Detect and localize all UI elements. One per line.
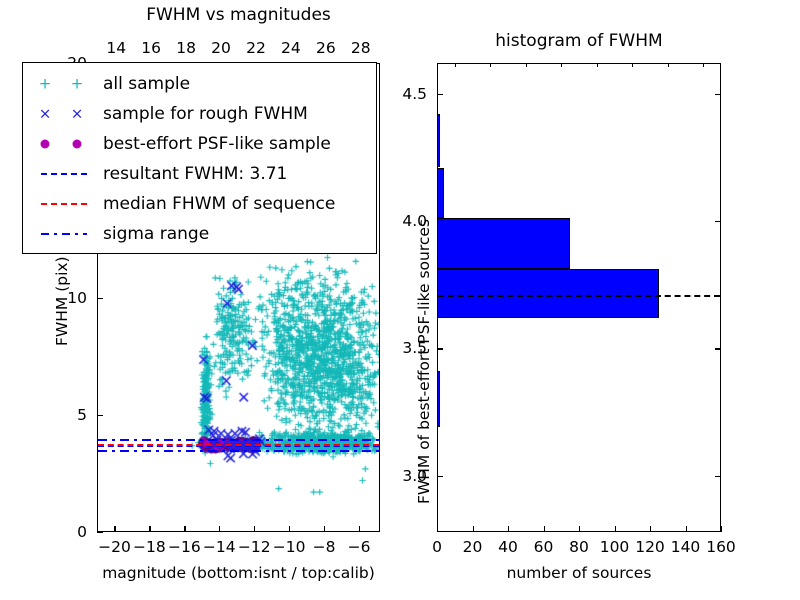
legend-marker-dashed-line <box>31 159 103 189</box>
histogram-bar <box>437 269 659 317</box>
legend-label: median FHWM of sequence <box>103 196 335 213</box>
right-xticklabel: 0 <box>432 538 442 556</box>
right-ytick-right <box>715 476 721 477</box>
left-xticklabel-top: 14 <box>106 39 126 57</box>
legend-entry: sigma range <box>31 219 209 249</box>
legend-entry: ++all sample <box>31 69 190 99</box>
legend-marker-cross: ×× <box>31 99 103 129</box>
legend-entry: ××sample for rough FWHM <box>31 99 308 129</box>
left-xticklabel-bottom: −12 <box>238 538 271 556</box>
left-xticklabel-top: 16 <box>141 39 161 57</box>
left-xtick-bottom <box>219 526 220 532</box>
right-xaxis-label: number of sources <box>507 564 652 582</box>
right-xtick-minor <box>490 63 491 67</box>
right-ytick-right <box>715 348 721 349</box>
left-xticklabel-top: 28 <box>351 39 371 57</box>
left-plot-title: FWHM vs magnitudes <box>97 5 380 25</box>
left-xticklabel-bottom: −20 <box>98 538 131 556</box>
right-xticklabel: 60 <box>534 538 554 556</box>
left-xtick-bottom <box>359 526 360 532</box>
right-xticklabel: 120 <box>635 538 665 556</box>
left-refline-sigma-range-lower <box>98 450 379 452</box>
legend-label: sample for rough FWHM <box>103 106 308 123</box>
histogram-bar <box>437 371 440 427</box>
right-xtick <box>686 526 687 532</box>
right-plot-title: histogram of FWHM <box>437 31 721 51</box>
right-xticklabel: 80 <box>569 538 589 556</box>
left-xticklabel-bottom: −16 <box>168 538 201 556</box>
right-ytick-right <box>715 221 721 222</box>
left-xticklabel-bottom: −6 <box>348 538 371 556</box>
plus-icon: + <box>39 77 52 92</box>
left-xticklabel-top: 22 <box>246 39 266 57</box>
right-ytick <box>437 221 443 222</box>
right-ytick <box>437 348 443 349</box>
left-xtick-bottom <box>254 526 255 532</box>
right-xtick-minor <box>597 63 598 67</box>
left-refline-sigma-range-upper <box>98 439 379 441</box>
histogram-bar <box>437 114 440 168</box>
left-xticklabel-bottom: −8 <box>313 538 336 556</box>
histogram-bar <box>437 168 444 219</box>
histogram-median-line <box>438 295 720 297</box>
left-yticklabel: 0 <box>77 523 87 541</box>
right-xtick <box>508 526 509 532</box>
right-xtick-minor <box>561 63 562 67</box>
legend-label: sigma range <box>103 226 209 243</box>
right-ytick <box>437 476 443 477</box>
legend-label: all sample <box>103 76 190 93</box>
right-xtick <box>721 526 722 532</box>
plus-icon: + <box>71 77 84 92</box>
right-xticklabel: 100 <box>600 538 630 556</box>
legend-marker-circle <box>31 129 103 159</box>
dashdot-line-icon <box>41 233 87 235</box>
left-xticklabel-top: 18 <box>176 39 196 57</box>
cross-icon: × <box>71 107 84 122</box>
left-xtick-bottom <box>289 526 290 532</box>
left-xticklabel-top: 26 <box>316 39 336 57</box>
dashed-line-icon <box>41 203 87 205</box>
legend-entry: resultant FWHM: 3.71 <box>31 159 287 189</box>
left-xtick-bottom <box>114 526 115 532</box>
left-xticklabel-bottom: −10 <box>273 538 306 556</box>
right-xticklabel: 20 <box>463 538 483 556</box>
legend-entry: best-effort PSF-like sample <box>31 129 331 159</box>
left-ytick <box>97 532 103 533</box>
right-xticklabel: 40 <box>498 538 518 556</box>
left-xtick-bottom <box>149 526 150 532</box>
right-yaxis-label: FWHM of best-effort PSF-like sources <box>415 219 433 504</box>
right-xtick <box>615 526 616 532</box>
left-xtick-bottom <box>324 526 325 532</box>
left-xaxis-label: magnitude (bottom:isnt / top:calib) <box>102 564 375 582</box>
right-xtick-minor <box>632 63 633 67</box>
legend-label: best-effort PSF-like sample <box>103 136 331 153</box>
right-xtick <box>437 526 438 532</box>
histogram-bar <box>437 218 570 269</box>
dashed-line-icon <box>41 173 87 175</box>
right-xtick <box>579 526 580 532</box>
circle-icon <box>73 140 82 149</box>
right-ytick <box>437 94 443 95</box>
right-yticklabel: 4.5 <box>402 85 427 103</box>
circle-icon <box>41 140 50 149</box>
right-xtick-minor <box>526 63 527 67</box>
legend-marker-plus: ++ <box>31 69 103 99</box>
left-yticklabel: 5 <box>77 406 87 424</box>
left-ytick <box>97 415 103 416</box>
right-xtick <box>544 526 545 532</box>
left-xticklabel-top: 20 <box>211 39 231 57</box>
right-ytick-right <box>715 94 721 95</box>
left-xticklabel-bottom: −18 <box>133 538 166 556</box>
right-xtick <box>473 526 474 532</box>
legend-entry: median FHWM of sequence <box>31 189 335 219</box>
right-xticklabel: 160 <box>706 538 736 556</box>
left-ytick <box>97 298 103 299</box>
left-xticklabel-top: 24 <box>281 39 301 57</box>
cross-icon: × <box>39 107 52 122</box>
left-xtick-bottom <box>184 526 185 532</box>
figure-canvas: FWHM vs magnitudes−20−18−16−14−12−10−8−6… <box>0 0 800 600</box>
right-xticklabel: 140 <box>671 538 701 556</box>
right-xtick-minor <box>668 63 669 67</box>
right-xtick <box>650 526 651 532</box>
left-xticklabel-bottom: −14 <box>203 538 236 556</box>
legend-marker-dashed-line <box>31 189 103 219</box>
legend-label: resultant FWHM: 3.71 <box>103 166 287 183</box>
right-xtick-minor <box>455 63 456 67</box>
left-refline-median-fhwm-of-sequence <box>98 444 379 446</box>
left-yaxis-label: FWHM (pix) <box>53 256 71 346</box>
legend-marker-dashdot-line <box>31 219 103 249</box>
right-xtick-minor <box>703 63 704 67</box>
legend-box: ++all sample××sample for rough FWHMbest-… <box>22 62 377 254</box>
